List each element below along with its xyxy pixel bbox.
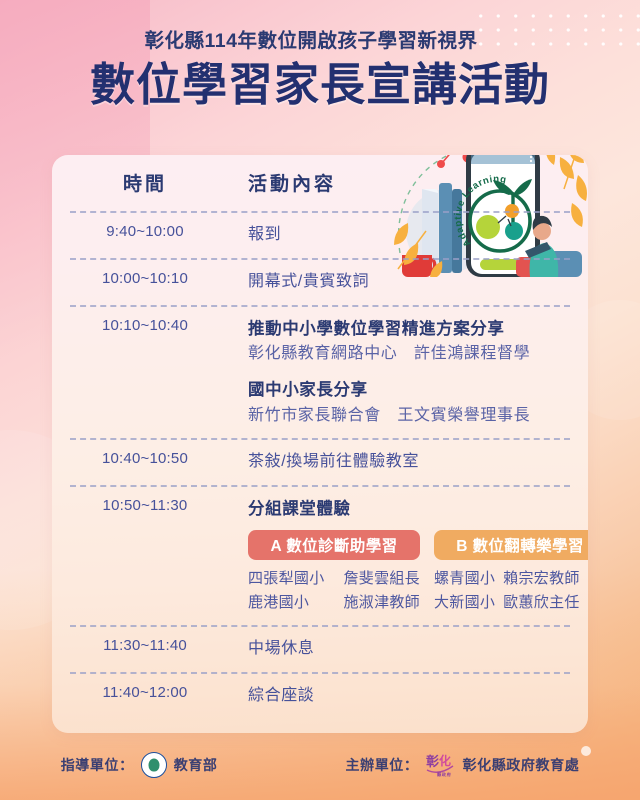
group-badge-list: A 數位診斷助學習 B 數位翻轉樂學習 [248, 530, 588, 560]
footer-host-label: 主辦單位： [346, 755, 419, 775]
table-row: 11:30~11:40 中場休息 [70, 627, 570, 672]
group-entry-school: 四張犁國小 [248, 567, 325, 591]
page-title: 數位學習家長宣講活動 [0, 62, 640, 109]
group-entry: 鹿港國小 施淑津教師 [248, 591, 420, 615]
schedule-card: Adaptive Learning [52, 155, 588, 733]
ministry-of-education-logo-icon [141, 752, 167, 778]
changhua-county-logo-icon: 彰 化 縣政府 [426, 753, 456, 777]
row-line-title: 推動中小學數位學習精進方案分享 [248, 317, 570, 343]
group-entry-person: 施淑津教師 [343, 591, 420, 615]
group-entry-school: 大新國小 [434, 591, 495, 615]
table-row: 10:40~10:50 茶敍/換場前往體驗教室 [70, 440, 570, 485]
row-time: 10:00~10:10 [70, 260, 220, 297]
table-row: 10:00~10:10 開幕式/貴賓致詞 [70, 260, 570, 305]
row-content: 分組課堂體驗 A 數位診斷助學習 B 數位翻轉樂學習 四張犁國小 詹斐雲組長 鹿… [220, 487, 588, 625]
footer-guide-label: 指導單位： [61, 755, 134, 775]
row-line-speaker: 新竹市家長聯合會 王文賓榮譽理事長 [248, 404, 570, 429]
svg-text:化: 化 [439, 753, 452, 768]
group-entry-person: 賴宗宏教師 [503, 567, 580, 591]
footer-guide-name: 教育部 [174, 755, 218, 775]
footer-host-name: 彰化縣政府教育處 [463, 755, 580, 775]
table-row: 9:40~10:00 報到 [70, 213, 570, 258]
table-row-groups: 10:50~11:30 分組課堂體驗 A 數位診斷助學習 B 數位翻轉樂學習 四… [70, 487, 570, 625]
svg-text:彰: 彰 [426, 754, 440, 769]
poster-header: 彰化縣114年數位開啟孩子學習新視界 數位學習家長宣講活動 [0, 24, 640, 109]
group-entry-school: 鹿港國小 [248, 591, 309, 615]
row-line: 中場休息 [248, 637, 570, 662]
row-line-title: 國中小家長分享 [248, 378, 570, 404]
group-entry-person: 歐蕙欣主任 [503, 591, 580, 615]
row-time: 10:10~10:40 [70, 307, 220, 344]
group-entry: 螺青國小 賴宗宏教師 [434, 567, 588, 591]
row-content: 茶敍/換場前往體驗教室 [220, 440, 570, 485]
footer-guide-unit: 指導單位： 教育部 [61, 752, 218, 778]
row-time: 10:40~10:50 [70, 440, 220, 477]
table-row: 10:10~10:40 推動中小學數位學習精進方案分享 彰化縣教育網路中心 許佳… [70, 307, 570, 439]
row-content: 綜合座談 [220, 674, 570, 719]
svg-text:縣政府: 縣政府 [437, 771, 452, 777]
row-line-speaker: 彰化縣教育網路中心 許佳鴻課程督學 [248, 342, 570, 367]
poster-footer: 指導單位： 教育部 主辦單位： 彰 化 縣政府 彰化縣政府教育處 [0, 752, 640, 778]
group-entry-columns: 四張犁國小 詹斐雲組長 鹿港國小 施淑津教師 螺青國小 賴宗宏教師 [248, 567, 588, 616]
group-entry-person: 詹斐雲組長 [343, 567, 420, 591]
row-time: 10:50~11:30 [70, 487, 220, 524]
row-time: 9:40~10:00 [70, 213, 220, 250]
header-kicker: 彰化縣114年數位開啟孩子學習新視界 [0, 24, 640, 53]
row-content: 開幕式/貴賓致詞 [220, 260, 570, 305]
row-line: 開幕式/貴賓致詞 [248, 270, 570, 295]
column-header-time: 時間 [70, 169, 220, 196]
column-header-content: 活動內容 [220, 169, 570, 196]
table-header-row: 時間 活動內容 [70, 169, 570, 211]
group-entry: 大新國小 歐蕙欣主任 [434, 591, 588, 615]
row-line: 綜合座談 [248, 684, 570, 709]
row-content: 推動中小學數位學習精進方案分享 彰化縣教育網路中心 許佳鴻課程督學 國中小家長分… [220, 307, 570, 439]
schedule-table: 時間 活動內容 9:40~10:00 報到 10:00~10:10 開幕式/貴賓… [52, 155, 588, 719]
group-badge-b[interactable]: B 數位翻轉樂學習 [434, 530, 588, 560]
footer-host-unit: 主辦單位： 彰 化 縣政府 彰化縣政府教育處 [346, 753, 580, 777]
group-column-a: 四張犁國小 詹斐雲組長 鹿港國小 施淑津教師 [248, 567, 420, 616]
row-line: 報到 [248, 223, 570, 248]
row-content: 中場休息 [220, 627, 570, 672]
group-entry-school: 螺青國小 [434, 567, 495, 591]
row-time: 11:40~12:00 [70, 674, 220, 711]
group-entry: 四張犁國小 詹斐雲組長 [248, 567, 420, 591]
row-time: 11:30~11:40 [70, 627, 220, 664]
group-badge-a[interactable]: A 數位診斷助學習 [248, 530, 420, 560]
group-column-b: 螺青國小 賴宗宏教師 大新國小 歐蕙欣主任 [434, 567, 588, 616]
table-row: 11:40~12:00 綜合座談 [70, 674, 570, 719]
row-content: 報到 [220, 213, 570, 258]
row-line-title: 分組課堂體驗 [248, 497, 588, 523]
row-line: 茶敍/換場前往體驗教室 [248, 450, 570, 475]
